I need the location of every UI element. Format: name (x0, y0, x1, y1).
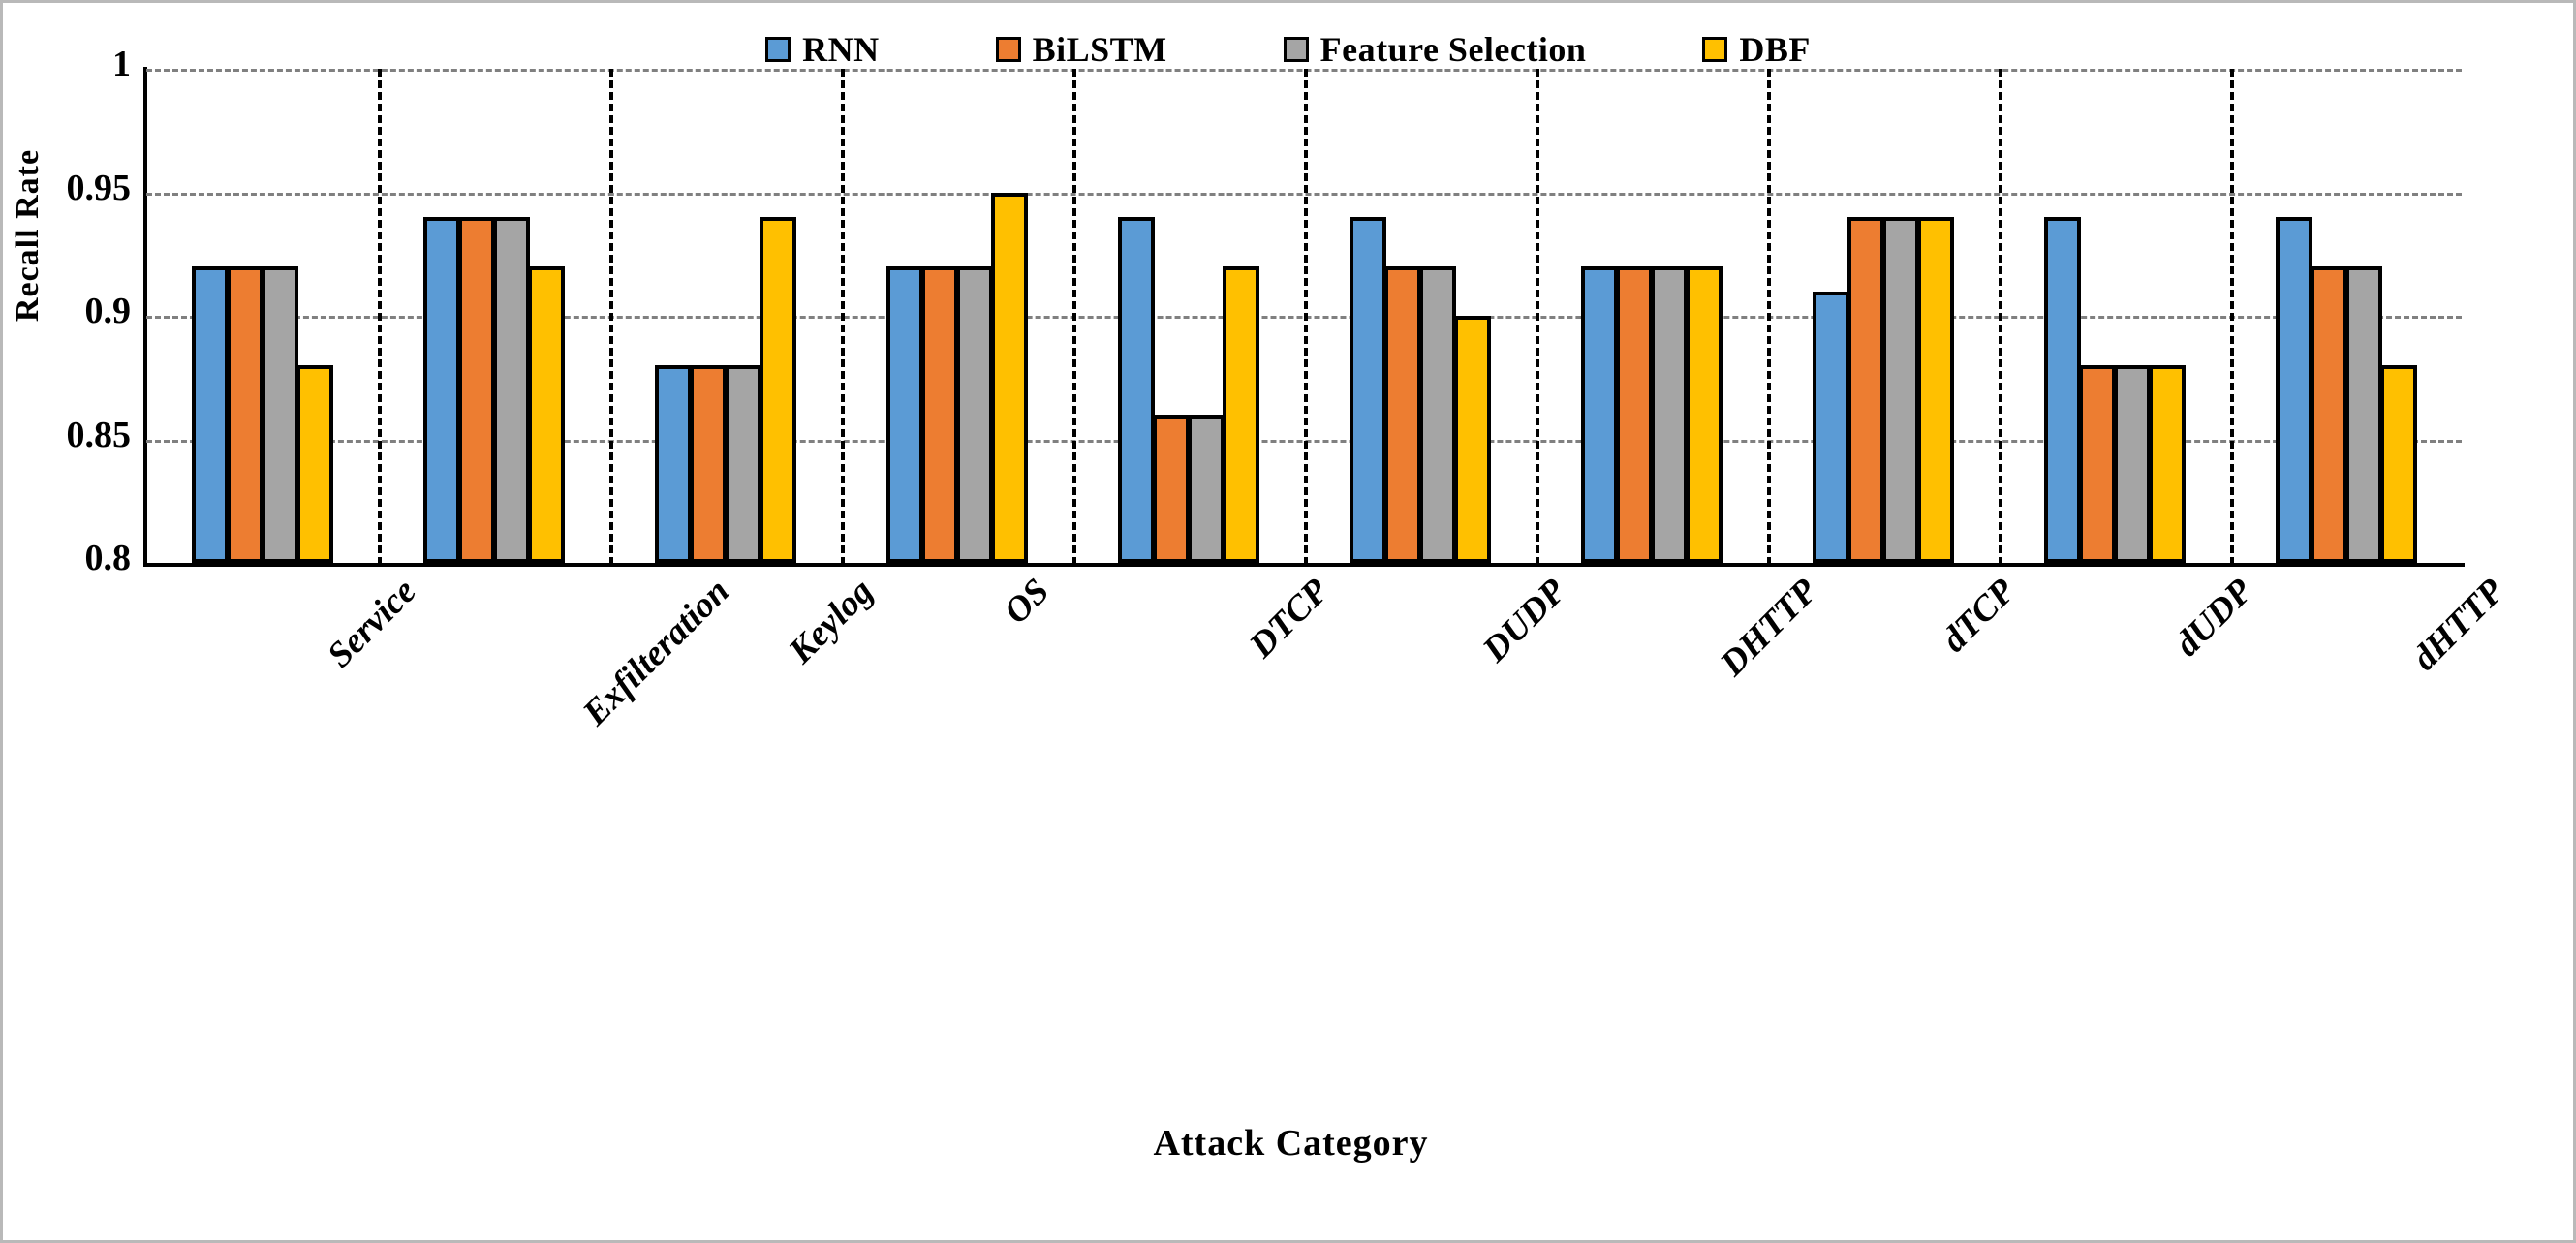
bar (2276, 217, 2312, 563)
bar (1153, 415, 1190, 563)
bar (493, 217, 530, 563)
bar (1581, 266, 1618, 563)
bar (1813, 292, 1849, 564)
bar (1384, 266, 1421, 563)
legend-label: RNN (802, 29, 880, 70)
bar (1847, 217, 1884, 563)
bar (1188, 415, 1225, 563)
y-tick-label: 0.95 (15, 170, 131, 206)
chart-legend: RNNBiLSTMFeature SelectionDBF (3, 30, 2573, 69)
legend-item-dbf[interactable]: DBF (1702, 29, 1811, 70)
bar (262, 266, 298, 563)
bar-group (1767, 69, 1999, 563)
x-tick-label: dHTTP (2404, 571, 2512, 679)
bar-group (841, 69, 1072, 563)
bar-group (146, 69, 378, 563)
bar (921, 266, 958, 563)
bar (991, 193, 1028, 564)
bar (192, 266, 229, 563)
bar (886, 266, 923, 563)
bar (423, 217, 460, 563)
bar (1350, 217, 1386, 563)
bar-group (378, 69, 609, 563)
x-tick-label: dTCP (1933, 571, 2023, 661)
legend-item-feature-selection[interactable]: Feature Selection (1284, 29, 1587, 70)
bar (1686, 266, 1723, 563)
y-tick-label: 0.8 (15, 540, 131, 576)
bar-group (1304, 69, 1536, 563)
bar (528, 266, 565, 563)
legend-swatch-icon (765, 37, 791, 62)
bar-chart-figure: RNNBiLSTMFeature SelectionDBF Recall Rat… (0, 0, 2576, 1243)
x-tick-label: OS (995, 571, 1057, 633)
x-tick-label: dUDP (2166, 571, 2260, 665)
bar-group (1072, 69, 1304, 563)
legend-label: Feature Selection (1320, 29, 1587, 70)
legend-label: DBF (1739, 29, 1811, 70)
bar (296, 365, 333, 563)
bar-group (2230, 69, 2462, 563)
bar (1454, 316, 1491, 563)
legend-label: BiLSTM (1033, 29, 1167, 70)
bar (2149, 365, 2186, 563)
bar (2380, 365, 2417, 563)
legend-swatch-icon (1284, 37, 1309, 62)
bar (2345, 266, 2382, 563)
y-tick-label: 0.9 (15, 293, 131, 329)
bar (1616, 266, 1653, 563)
bar (1917, 217, 1954, 563)
bar (1223, 266, 1259, 563)
bar-groups (146, 69, 2462, 563)
bar (725, 365, 761, 563)
x-tick-label: Exfilteration (574, 571, 738, 734)
bar (458, 217, 495, 563)
bar (1882, 217, 1919, 563)
legend-swatch-icon (1702, 37, 1727, 62)
legend-item-rnn[interactable]: RNN (765, 29, 880, 70)
bar (2044, 217, 2081, 563)
y-tick-label: 0.85 (15, 417, 131, 453)
x-tick-label: DUDP (1474, 571, 1574, 670)
x-tick-label: DHTTP (1712, 571, 1826, 685)
x-tick-label: DTCP (1241, 571, 1337, 667)
bar (1419, 266, 1456, 563)
bar (2114, 365, 2151, 563)
bar (655, 365, 692, 563)
y-tick-label: 1 (15, 46, 131, 82)
bar (227, 266, 264, 563)
bar (690, 365, 727, 563)
bar-group (1999, 69, 2230, 563)
bar (956, 266, 993, 563)
bar (2311, 266, 2347, 563)
bar (1651, 266, 1688, 563)
bar (760, 217, 796, 563)
x-axis-title: Attack Category (3, 1122, 2576, 1165)
bar (1118, 217, 1155, 563)
x-axis-tick-labels: ServiceExfilterationKeylogOSDTCPDUDPDHTT… (146, 571, 2462, 764)
y-axis-tick-labels: 0.80.850.90.951 (3, 3, 131, 1240)
bar-group (609, 69, 841, 563)
legend-swatch-icon (996, 37, 1021, 62)
x-tick-label: Service (319, 571, 424, 676)
bar (2079, 365, 2116, 563)
bar-group (1536, 69, 1767, 563)
x-tick-label: Keylog (780, 571, 882, 672)
legend-item-bilstm[interactable]: BiLSTM (996, 29, 1167, 70)
